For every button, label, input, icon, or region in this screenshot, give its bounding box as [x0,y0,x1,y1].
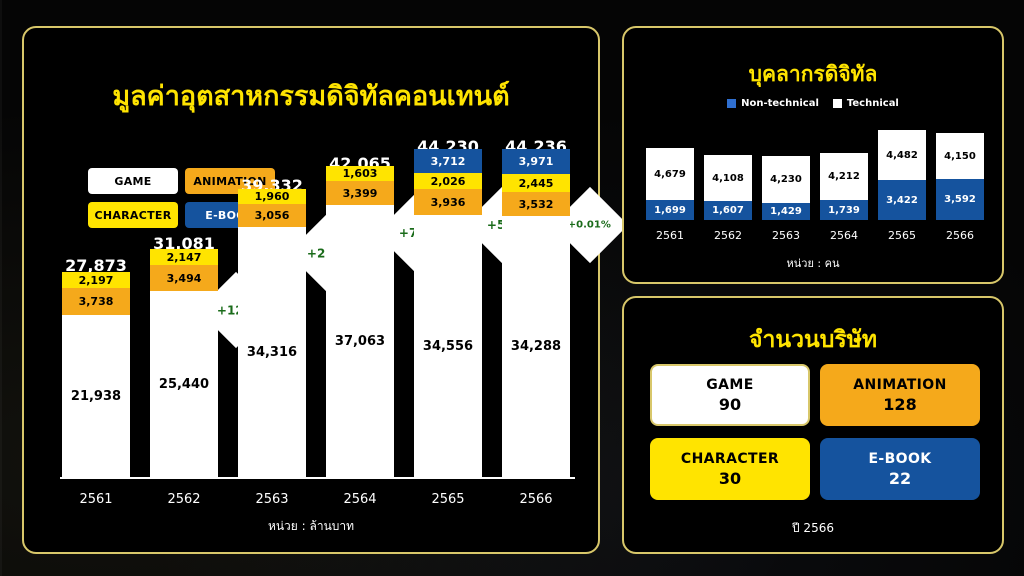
company-card-ebook: E-BOOK 22 [820,438,980,500]
company-card-character-value: 30 [719,469,741,488]
workforce-technical-2561: 4,679 [646,148,694,200]
segment-game-2564: 37,063 [326,205,394,477]
workforce-bar-2565: 4,482 3,422 [878,130,926,220]
bar-2566: 3,971 2,445 3,532 34,288 [502,149,570,477]
segment-animation-2565: 3,936 [414,189,482,215]
workforce-legend: Non-technical Technical [624,98,1002,109]
right-bottom-panel-title: จำนวนบริษัท [624,322,1002,358]
segment-character-2565: 2,026 [414,173,482,189]
segment-character-2566: 2,445 [502,174,570,192]
segment-game-2563: 34,316 [238,227,306,477]
workforce-non-technical-2566: 3,592 [936,179,984,220]
right-top-panel-title: บุคลากรดิจิทัล [624,58,1002,91]
segment-animation-2562: 3,494 [150,265,218,291]
company-card-animation: ANIMATION 128 [820,364,980,426]
segment-game-2562: 25,440 [150,291,218,477]
workforce-bar-2566: 4,150 3,592 [936,133,984,220]
company-card-character-name: CHARACTER [681,451,779,467]
bar-2564: 1,603 3,399 37,063 [326,166,394,477]
segment-character-2561: 2,197 [62,272,130,288]
x-axis-line [60,477,575,479]
workforce-non-technical-2562: 1,607 [704,201,752,220]
workforce-technical-2563: 4,230 [762,156,810,203]
workforce-bar-2563: 4,230 1,429 [762,156,810,220]
workforce-technical-2565: 4,482 [878,130,926,180]
bar-2565: 3,712 2,026 3,936 34,556 [414,149,482,477]
workforce-technical-2562: 4,108 [704,155,752,201]
workforce-x-label-2562: 2562 [704,229,752,242]
workforce-bar-2564: 4,212 1,739 [820,153,868,220]
workforce-non-technical-2563: 1,429 [762,203,810,220]
segment-ebook-2565: 3,712 [414,149,482,173]
segment-animation-2566: 3,532 [502,192,570,216]
company-card-game: GAME 90 [650,364,810,426]
legend-item-technical: Technical [833,98,899,109]
segment-game-2561: 21,938 [62,315,130,477]
workforce-technical-2564: 4,212 [820,153,868,200]
company-card-ebook-value: 22 [889,469,911,488]
x-label-2565: 2565 [414,492,482,507]
growth-badge-2566-label: +0.01% [568,219,611,230]
legend-swatch-non-technical [727,99,736,108]
company-card-character: CHARACTER 30 [650,438,810,500]
legend-label-non-technical: Non-technical [741,98,819,109]
company-card-animation-name: ANIMATION [853,377,946,393]
bar-2563: 1,960 3,056 34,316 [238,189,306,477]
bar-2561: 2,197 3,738 21,938 [62,272,130,477]
workforce-x-label-2566: 2566 [936,229,984,242]
digital-content-value-panel: มูลค่าอุตสาหกรรมดิจิทัลคอนเทนต์ GAME ANI… [22,26,600,554]
x-label-2564: 2564 [326,492,394,507]
slide-page: มูลค่าอุตสาหกรรมดิจิทัลคอนเทนต์ GAME ANI… [0,0,1024,576]
segment-ebook-2566: 3,971 [502,149,570,174]
company-card-ebook-name: E-BOOK [868,451,931,467]
company-count-cards: GAME 90 ANIMATION 128 CHARACTER 30 E-BOO… [650,364,980,500]
workforce-bar-2562: 4,108 1,607 [704,155,752,220]
legend-swatch-technical [833,99,842,108]
legend-label-technical: Technical [847,98,899,109]
segment-animation-2561: 3,738 [62,288,130,315]
digital-workforce-panel: บุคลากรดิจิทัล Non-technical Technical 4… [622,26,1004,284]
segment-animation-2564: 3,399 [326,181,394,205]
segment-animation-2563: 3,056 [238,204,306,227]
left-chart-unit-label: หน่วย : ล้านบาท [24,517,598,536]
x-label-2563: 2563 [238,492,306,507]
workforce-non-technical-2565: 3,422 [878,180,926,220]
company-card-animation-value: 128 [883,395,916,414]
bar-2562: 2,147 3,494 25,440 [150,249,218,477]
workforce-x-label-2561: 2561 [646,229,694,242]
workforce-x-label-2564: 2564 [820,229,868,242]
company-count-panel: จำนวนบริษัท GAME 90 ANIMATION 128 CHARAC… [622,296,1004,554]
left-panel-title: มูลค่าอุตสาหกรรมดิจิทัลคอนเทนต์ [24,74,598,117]
legend-item-non-technical: Non-technical [727,98,819,109]
company-card-game-name: GAME [706,377,753,393]
segment-game-2566: 34,288 [502,216,570,477]
segment-game-2565: 34,556 [414,215,482,477]
segment-character-2564: 1,603 [326,166,394,181]
workforce-bar-2561: 4,679 1,699 [646,148,694,220]
workforce-non-technical-2564: 1,739 [820,200,868,220]
workforce-unit-label: หน่วย : คน [624,254,1002,272]
company-count-year-note: ปี 2566 [624,519,1002,538]
segment-character-2562: 2,147 [150,249,218,265]
workforce-non-technical-2561: 1,699 [646,200,694,220]
digital-content-value-chart: 27,873 2,197 3,738 21,938 2561 +12% 31,0… [54,178,579,523]
digital-workforce-chart: 4,679 1,699 2561 4,108 1,607 2562 4,230 … [642,120,990,250]
workforce-x-label-2563: 2563 [762,229,810,242]
x-label-2562: 2562 [150,492,218,507]
x-label-2561: 2561 [62,492,130,507]
x-label-2566: 2566 [502,492,570,507]
workforce-technical-2566: 4,150 [936,133,984,179]
company-card-game-value: 90 [719,395,741,414]
segment-character-2563: 1,960 [238,189,306,204]
workforce-x-label-2565: 2565 [878,229,926,242]
